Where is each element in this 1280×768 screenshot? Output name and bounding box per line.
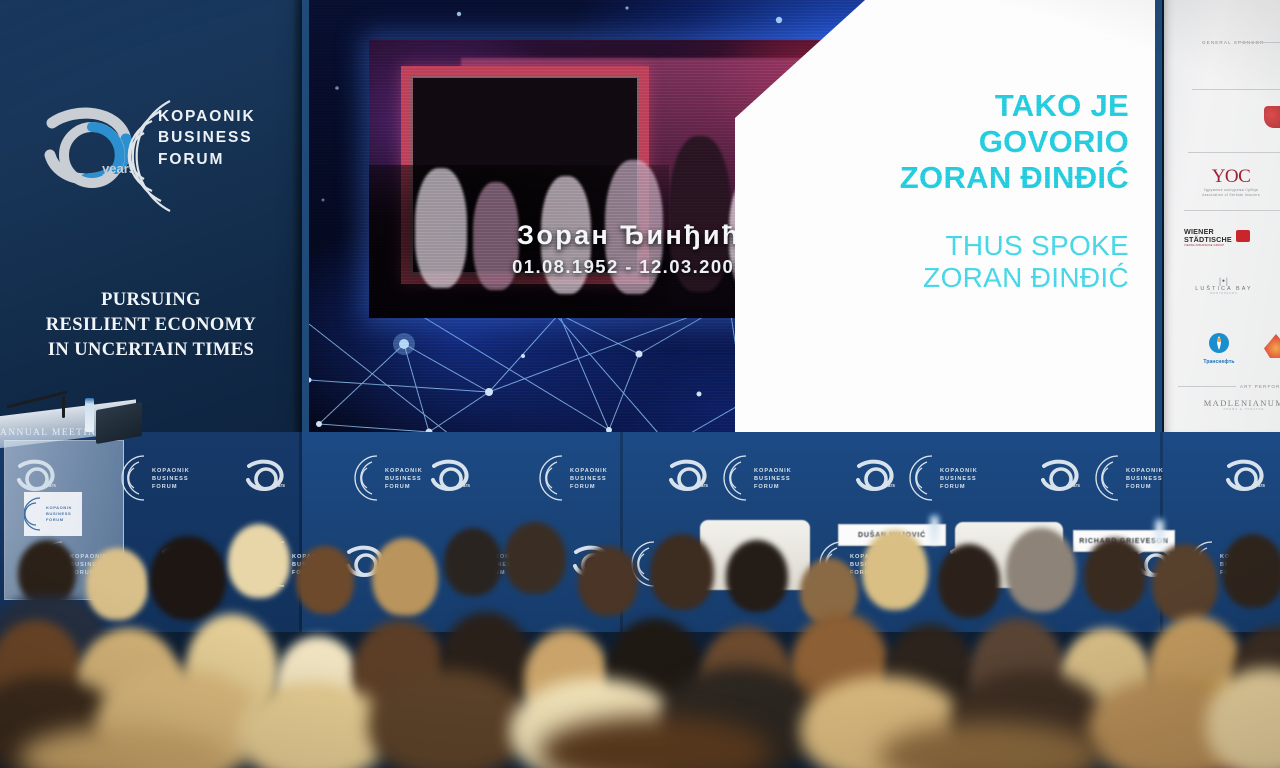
madlenianum-logo: MADLENIANUM OPERA & THEATRE — [1194, 398, 1280, 411]
audience-crowd — [0, 500, 1280, 768]
transneft-wordmark: Транснефть — [1190, 359, 1248, 365]
podium-microphone-stem — [62, 396, 65, 418]
wiener-staedtische-logo: WIENER STÄDTISCHE VIENNA INSURANCE GROUP — [1184, 228, 1264, 247]
wiener-wordmark: WIENER STÄDTISCHE — [1184, 228, 1232, 244]
slide-title-english: THUS SPOKE ZORAN ĐINĐIĆ — [799, 230, 1129, 295]
madlenianum-subline: OPERA & THEATRE — [1194, 408, 1280, 411]
left-wall-brand-text: KOPAONIK BUSINESS FORUM — [158, 106, 288, 170]
podium-water-bottle — [85, 398, 94, 432]
audience-head — [1222, 534, 1280, 608]
slide-white-panel: TAKO JE GOVORIO ZORAN ĐINĐIĆ THUS SPOKE … — [735, 0, 1155, 434]
conference-hall-photo: years KOPAONIK BUSINESS FORUM PURSUING R… — [0, 0, 1280, 768]
yoc-wordmark: YOC — [1188, 166, 1274, 188]
audience-head — [372, 538, 438, 616]
sponsor-divider — [1184, 210, 1280, 211]
wiener-subline: VIENNA INSURANCE GROUP — [1184, 244, 1264, 247]
audience-head — [150, 536, 226, 620]
audience-head — [296, 546, 354, 614]
audience-head — [938, 544, 1000, 618]
audience-head-foreground — [368, 670, 528, 768]
sponsor-divider — [1238, 42, 1280, 43]
yoc-subline-english: Association of Serbian Insurers — [1188, 193, 1274, 198]
wiener-mark-icon — [1236, 230, 1250, 242]
audience-head — [1152, 544, 1218, 622]
slide-title-serbian: TAKO JE GOVORIO ZORAN ĐINĐIĆ — [799, 88, 1129, 196]
sponsor-section-label-art: ART PERFORMANCE — [1240, 384, 1280, 389]
audience-head — [1084, 538, 1146, 612]
lustica-subline: MONTENEGRO — [1174, 292, 1274, 295]
audience-head — [862, 530, 928, 610]
transneft-mark-icon — [1208, 332, 1230, 354]
audience-head — [650, 534, 714, 610]
second-sponsor-flame-logo — [1264, 334, 1280, 358]
audience-head — [578, 546, 638, 616]
audience-head — [444, 528, 502, 596]
transneft-logo: Транснефть — [1190, 332, 1248, 365]
sponsor-divider — [1192, 89, 1280, 90]
audience-head — [1006, 528, 1076, 612]
sponsor-divider — [1188, 152, 1280, 153]
left-wall-panel: years KOPAONIK BUSINESS FORUM PURSUING R… — [0, 0, 302, 440]
forum-tagline: PURSUING RESILIENT ECONOMY IN UNCERTAIN … — [0, 288, 302, 363]
yoc-logo: YOC Удружење осигурања Србије Associatio… — [1188, 166, 1274, 198]
sponsor-divider — [1178, 386, 1236, 387]
led-screen: Зоран Ђинђић 01.08.1952 - 12.03.2003 TAK… — [309, 0, 1155, 434]
general-sponsor-logo — [1264, 106, 1280, 128]
lustica-bay-logo: |•| LUŠTICA BAY MONTENEGRO — [1174, 276, 1274, 295]
sponsor-board: GENERAL SPONSOR YOC Удружење осигурања С… — [1164, 0, 1280, 434]
madlenianum-wordmark: MADLENIANUM — [1194, 398, 1280, 408]
audience-head — [228, 524, 290, 598]
lustica-mark-icon: |•| — [1174, 276, 1274, 286]
audience-head — [726, 540, 788, 612]
audience-head — [86, 548, 148, 620]
audience-head — [504, 522, 566, 594]
